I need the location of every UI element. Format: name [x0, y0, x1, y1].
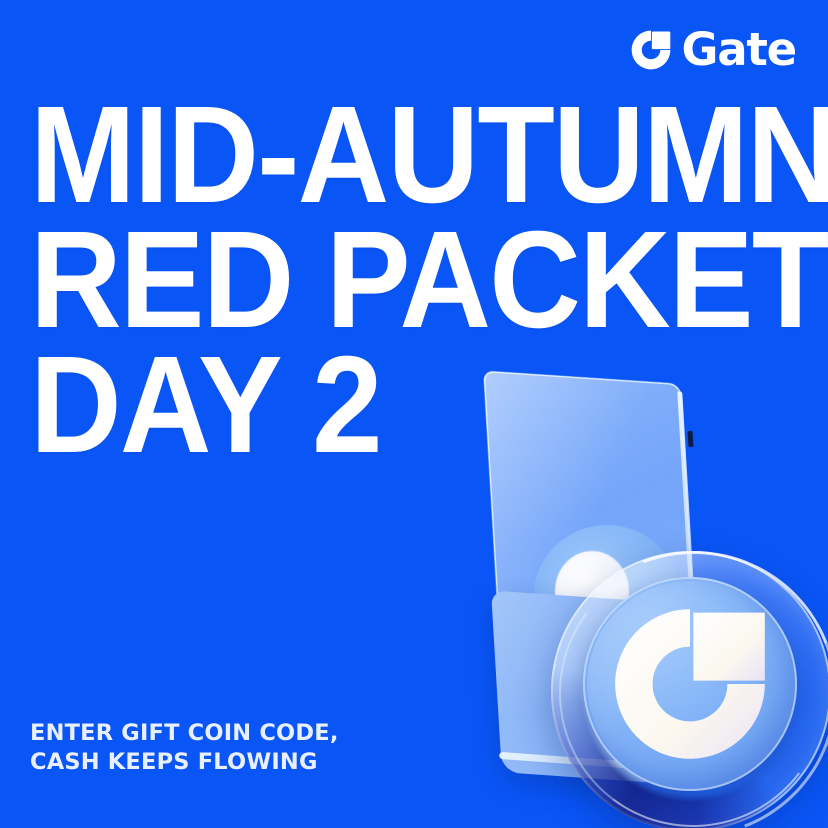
headline-line-1: MID-AUTUMN [30, 94, 674, 217]
gate-logo-icon [630, 29, 672, 71]
brand-wordmark: Gate [681, 27, 796, 72]
brand-logo: Gate [630, 24, 796, 76]
tagline: ENTER GIFT COIN CODE, CASH KEEPS FLOWING [30, 719, 339, 778]
tagline-line-1: ENTER GIFT COIN CODE, [30, 719, 339, 749]
envelope-notch [688, 431, 694, 447]
promo-poster: Gate MID-AUTUMN RED PACKET DAY 2 ENTER G… [0, 0, 828, 828]
tagline-line-2: CASH KEEPS FLOWING [30, 748, 339, 778]
red-packet-3d-illustration [455, 355, 828, 828]
gate-logo-icon [605, 599, 775, 769]
headline-line-2: RED PACKET [30, 219, 674, 342]
